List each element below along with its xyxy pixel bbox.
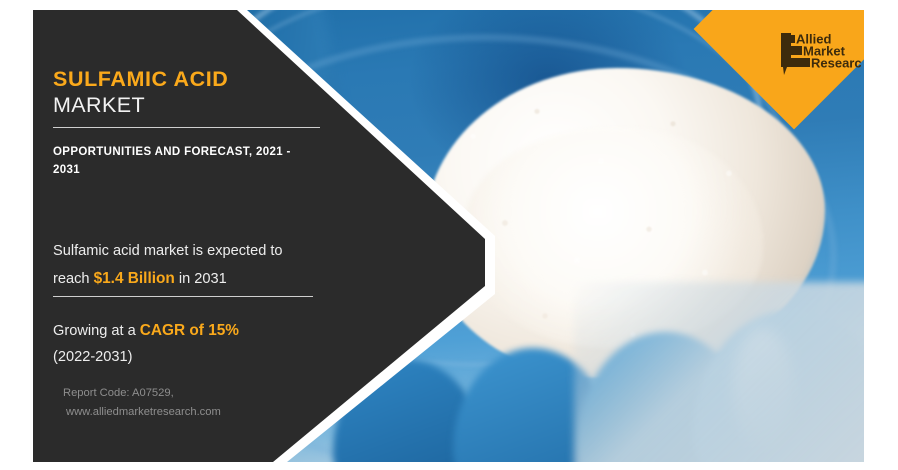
stat-cagr-prefix: Growing at a [53,323,140,339]
logo-text-research: Research [811,56,861,71]
stat-market-value-suffix: in 2031 [175,271,227,287]
logo-speech-bubble-icon: Allied Market Research [775,28,861,84]
title-line-product: SULFAMIC ACID [53,66,228,92]
divider-middle [53,296,313,297]
stat-cagr: Growing at a CAGR of 15%(2022-2031) [53,318,321,370]
report-code: Report Code: A07529, [63,384,323,403]
allied-market-research-logo[interactable]: Allied Market Research [775,28,861,84]
report-meta: Report Code: A07529, www.alliedmarketres… [63,384,323,422]
forecast-subtitle: OPPORTUNITIES AND FORECAST, 2021 - 2031 [53,143,321,179]
stat-market-value: Sulfamic acid market is expected to reac… [53,238,321,293]
stat-cagr-highlight: CAGR of 15% [140,322,239,339]
page-title: SULFAMIC ACID MARKET [53,66,228,119]
stat-cagr-suffix: (2022-2031) [53,349,133,365]
market-report-banner: SULFAMIC ACID MARKET OPPORTUNITIES AND F… [33,10,864,462]
report-website: www.alliedmarketresearch.com [63,403,323,422]
title-line-market: MARKET [53,92,228,119]
divider-top [53,127,320,128]
stat-market-value-highlight: $1.4 Billion [94,270,175,287]
photo-corner-light [574,282,864,462]
